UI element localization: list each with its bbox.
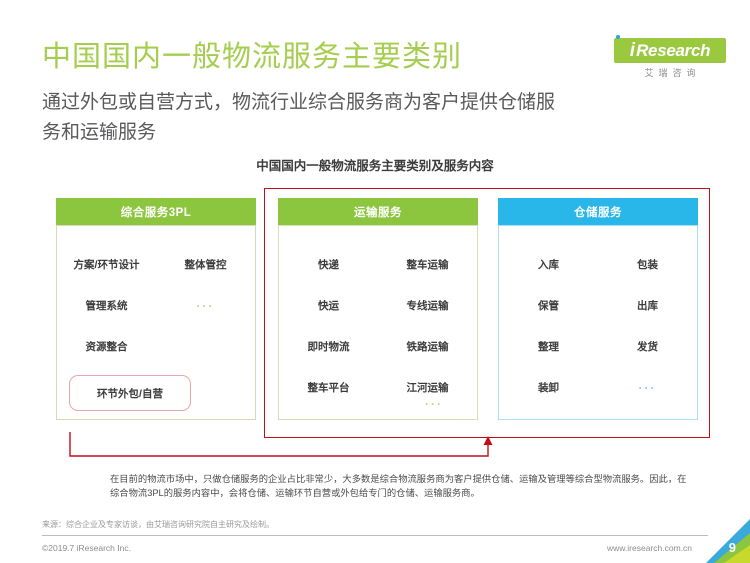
iresearch-logo: i Research 艾瑞咨询 <box>614 38 726 79</box>
column-rows-warehouse: 入库 包装 保管 出库 整理 发货 装卸 ··· <box>499 244 697 408</box>
cell-item: 整理 <box>499 339 598 354</box>
table-row: 快递 整车运输 <box>279 244 477 285</box>
cell-item: 整车运输 <box>378 257 477 272</box>
cell-item: 管理系统 <box>57 298 156 313</box>
column-header-transport: 运输服务 <box>278 198 478 225</box>
cell-item: 江河运输 <box>378 380 477 395</box>
cell-item: 包装 <box>598 257 697 272</box>
cell-item: 保管 <box>499 298 598 313</box>
column-header-3pl: 综合服务3PL <box>56 198 256 225</box>
diagram: 综合服务3PL 方案/环节设计 整体管控 管理系统 ··· 资源整合 <box>42 188 710 458</box>
ellipsis-icon: ··· <box>156 299 255 313</box>
highlight-box-outsourcing: 环节外包/自营 <box>69 375 191 411</box>
website-url: www.iresearch.com.cn <box>607 543 692 553</box>
logo-chinese-name: 艾瑞咨询 <box>614 66 726 79</box>
column-header-warehouse: 仓储服务 <box>498 198 698 225</box>
cell-item: 整车平台 <box>279 380 378 395</box>
ellipsis-icon: ··· <box>598 381 697 395</box>
table-row: 保管 出库 <box>499 285 697 326</box>
ellipsis-icon: ··· <box>425 397 443 411</box>
logo-wordmark: Research <box>636 41 710 60</box>
page-title: 中国国内一般物流服务主要类别 <box>42 40 462 74</box>
column-body-3pl: 方案/环节设计 整体管控 管理系统 ··· 资源整合 环节外包/自营 <box>56 225 256 420</box>
note-text: 在目前的物流市场中，只做仓储服务的企业占比非常少，大多数是综合物流服务商为客户提… <box>110 472 690 500</box>
column-rows-3pl: 方案/环节设计 整体管控 管理系统 ··· 资源整合 <box>57 244 255 367</box>
logo-dot-icon <box>616 35 620 39</box>
cell-item: 快递 <box>279 257 378 272</box>
table-row: 方案/环节设计 整体管控 <box>57 244 255 285</box>
table-row: 入库 包装 <box>499 244 697 285</box>
column-body-transport: 快递 整车运输 快运 专线运输 即时物流 铁路运输 整车平台 江河运输 <box>278 225 478 420</box>
page-subtitle: 通过外包或自营方式，物流行业综合服务商为客户提供仓储服务和运输服务 <box>42 88 562 148</box>
cell-item: 入库 <box>499 257 598 272</box>
logo-mark: i Research <box>614 38 726 63</box>
column-transport-service: 运输服务 快递 整车运输 快运 专线运输 即时物流 铁路运输 <box>278 198 478 420</box>
cell-item: 整体管控 <box>156 257 255 272</box>
column-rows-transport: 快递 整车运输 快运 专线运输 即时物流 铁路运输 整车平台 江河运输 <box>279 244 477 408</box>
cell-item: 铁路运输 <box>378 339 477 354</box>
cell-item: 资源整合 <box>57 339 156 354</box>
cell-item: 即时物流 <box>279 339 378 354</box>
slide: 中国国内一般物流服务主要类别 通过外包或自营方式，物流行业综合服务商为客户提供仓… <box>0 0 750 563</box>
table-row: 即时物流 铁路运输 <box>279 326 477 367</box>
copyright-text: ©2019.7 iResearch Inc. <box>42 543 131 553</box>
footer-divider <box>42 535 708 536</box>
table-row: 装卸 ··· <box>499 367 697 408</box>
cell-item: 快运 <box>279 298 378 313</box>
table-row: 资源整合 <box>57 326 255 367</box>
logo-letter-i: i <box>630 41 635 60</box>
chart-title: 中国国内一般物流服务主要类别及服务内容 <box>0 155 750 174</box>
table-row: 快运 专线运输 <box>279 285 477 326</box>
column-body-warehouse: 入库 包装 保管 出库 整理 发货 装卸 ··· <box>498 225 698 420</box>
source-text: 来源：综合企业及专家访谈，由艾瑞咨询研究院自主研究及绘制。 <box>42 519 274 530</box>
corner-decoration <box>694 519 750 563</box>
cell-item: 装卸 <box>499 380 598 395</box>
cell-item: 专线运输 <box>378 298 477 313</box>
table-row: 管理系统 ··· <box>57 285 255 326</box>
table-row: 整车平台 江河运输 <box>279 367 477 408</box>
column-warehouse-service: 仓储服务 入库 包装 保管 出库 整理 发货 <box>498 198 698 420</box>
cell-item: 出库 <box>598 298 697 313</box>
cell-item: 发货 <box>598 339 697 354</box>
table-row: 整理 发货 <box>499 326 697 367</box>
column-comprehensive-3pl: 综合服务3PL 方案/环节设计 整体管控 管理系统 ··· 资源整合 <box>56 198 256 420</box>
cell-item: 方案/环节设计 <box>57 257 156 272</box>
page-number: 9 <box>729 540 736 555</box>
